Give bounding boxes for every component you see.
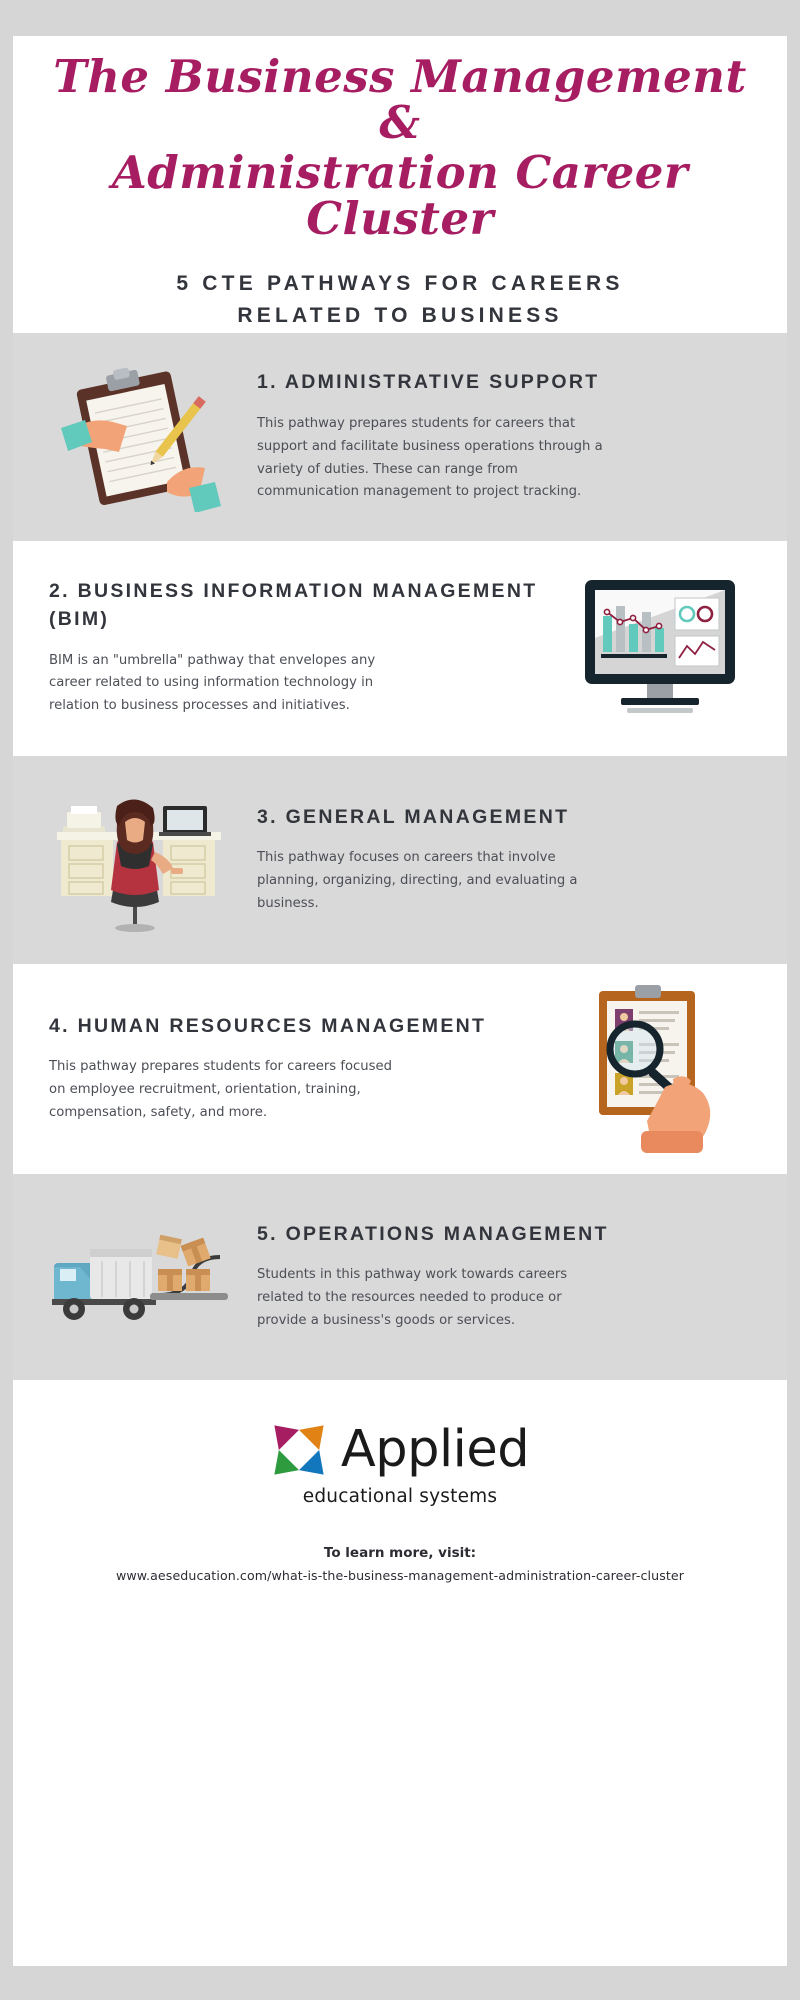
page-subtitle: 5 CTE PATHWAYS FOR CAREERS RELATED TO BU… xyxy=(43,268,757,333)
page-subtitle-line-1: 5 CTE PATHWAYS FOR CAREERS xyxy=(43,268,757,301)
pathway-5-text: 5. OPERATIONS MANAGEMENT Students in thi… xyxy=(241,1221,759,1333)
pathway-section-5: 5. OPERATIONS MANAGEMENT Students in thi… xyxy=(13,1174,787,1380)
page-left-rail xyxy=(0,36,13,1966)
pathway-section-1: 1. ADMINISTRATIVE SUPPORT This pathway p… xyxy=(13,333,787,541)
brand-name: Applied xyxy=(341,1424,529,1475)
pathway-section-3: 3. GENERAL MANAGEMENT This pathway focus… xyxy=(13,756,787,964)
footer-url[interactable]: www.aeseducation.com/what-is-the-busines… xyxy=(43,1568,757,1583)
pathway-5-body: Students in this pathway work towards ca… xyxy=(257,1264,607,1332)
pathway-4-text: 4. HUMAN RESOURCES MANAGEMENT This pathw… xyxy=(41,1013,559,1125)
pathway-3-body: This pathway focuses on careers that inv… xyxy=(257,847,607,915)
footer: Applied educational systems To learn mor… xyxy=(13,1380,787,1583)
delivery-truck-conveyor-boxes-icon xyxy=(41,1207,241,1347)
pathway-2-text: 2. BUSINESS INFORMATION MANAGEMENT (BIM)… xyxy=(41,578,559,717)
pathway-3-text: 3. GENERAL MANAGEMENT This pathway focus… xyxy=(241,804,759,916)
infographic-canvas: The Business Management & Administration… xyxy=(13,36,787,1966)
page-right-rail xyxy=(787,36,800,1966)
pathway-2-heading: 2. BUSINESS INFORMATION MANAGEMENT (BIM) xyxy=(49,578,545,633)
page-top-edge xyxy=(0,0,800,36)
page-title-line-2: Administration Career Cluster xyxy=(43,150,757,242)
pathway-1-text: 1. ADMINISTRATIVE SUPPORT This pathway p… xyxy=(241,369,759,504)
pathway-4-body: This pathway prepares students for caree… xyxy=(49,1056,399,1124)
pathway-5-heading: 5. OPERATIONS MANAGEMENT xyxy=(257,1221,751,1249)
brand-logo: Applied xyxy=(43,1422,757,1478)
pathway-4-heading: 4. HUMAN RESOURCES MANAGEMENT xyxy=(49,1013,545,1041)
clipboard-writing-hands-icon xyxy=(41,362,241,512)
brand-tagline: educational systems xyxy=(43,1486,757,1507)
learn-more-label: To learn more, visit: xyxy=(43,1545,757,1561)
pathway-section-4: 4. HUMAN RESOURCES MANAGEMENT This pathw… xyxy=(13,964,787,1174)
pathway-section-2: 2. BUSINESS INFORMATION MANAGEMENT (BIM)… xyxy=(13,541,787,756)
page-bottom-edge xyxy=(0,1966,800,2000)
desktop-monitor-charts-icon xyxy=(559,572,759,724)
pinwheel-logo-icon xyxy=(271,1422,327,1478)
resume-magnifier-hand-icon xyxy=(559,983,759,1155)
pathway-3-heading: 3. GENERAL MANAGEMENT xyxy=(257,804,751,832)
page-subtitle-line-2: RELATED TO BUSINESS xyxy=(43,300,757,333)
header: The Business Management & Administration… xyxy=(13,36,787,333)
pathway-1-body: This pathway prepares students for caree… xyxy=(257,413,607,504)
pathway-1-heading: 1. ADMINISTRATIVE SUPPORT xyxy=(257,369,751,397)
page-title-line-1: The Business Management & xyxy=(43,54,757,146)
woman-at-office-desk-icon xyxy=(41,782,241,938)
infographic-page: The Business Management & Administration… xyxy=(0,0,800,2000)
pathway-2-body: BIM is an "umbrella" pathway that envelo… xyxy=(49,650,399,718)
